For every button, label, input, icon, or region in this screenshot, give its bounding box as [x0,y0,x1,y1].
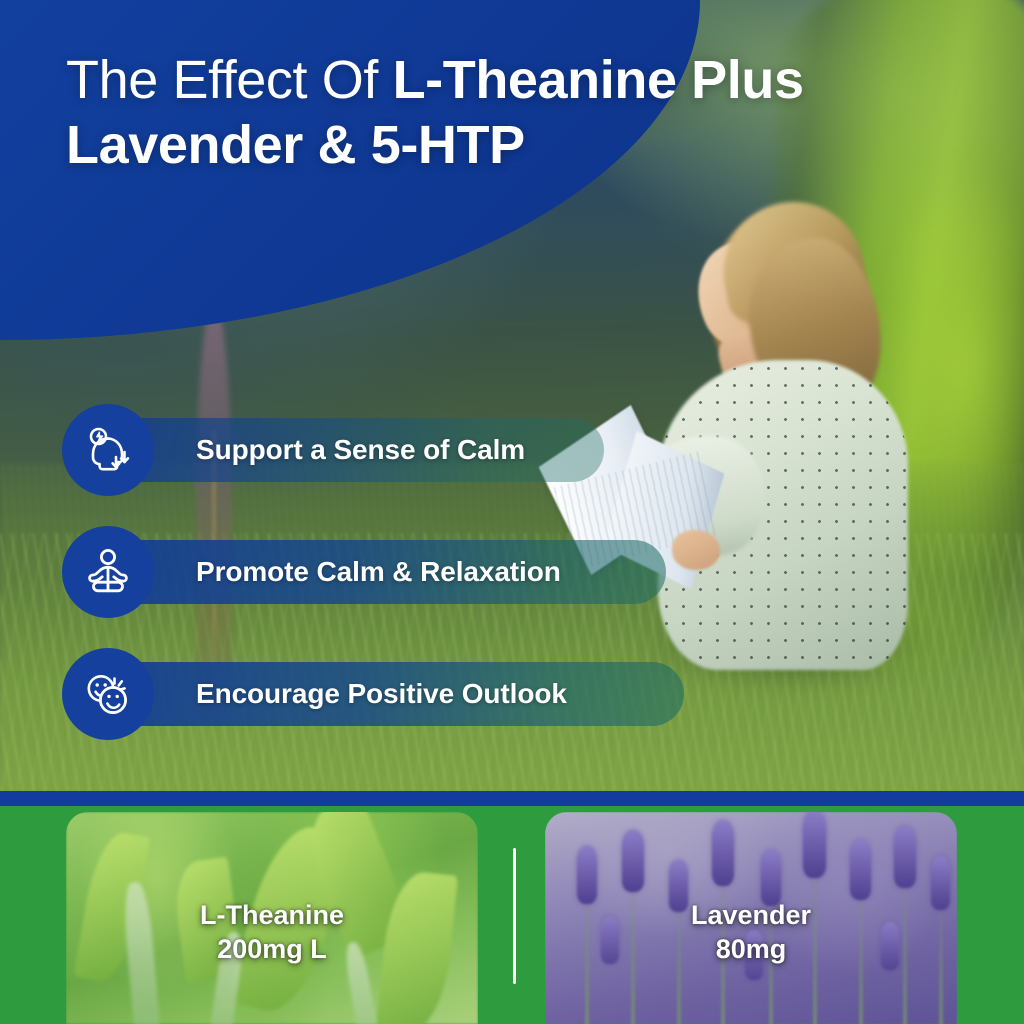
ingredient-card-lavender[interactable]: Lavender 80mg [545,812,957,1024]
benefit-label: Encourage Positive Outlook [196,678,567,710]
ingredient-card-l-theanine[interactable]: L-Theanine 200mg L [66,812,478,1024]
ingredient-name: Lavender [545,898,957,932]
benefit-item-support-calm[interactable]: Support a Sense of Calm [0,404,1024,496]
ingredient-title: L-Theanine 200mg L [66,898,478,966]
benefit-label: Support a Sense of Calm [196,434,525,466]
benefit-pill: Encourage Positive Outlook [104,662,684,726]
smiley-faces-icon [62,648,154,740]
benefit-label: Promote Calm & Relaxation [196,556,561,588]
card-divider [513,848,516,984]
ingredient-name: L-Theanine [66,898,478,932]
benefit-pill: Support a Sense of Calm [104,418,604,482]
infographic-canvas: The Effect Of L-Theanine Plus Lavender &… [0,0,1024,1024]
headline-lead: The Effect Of [66,50,393,110]
headline-strong-line2: Lavender & 5-HTP [66,115,525,175]
ingredients-section: L-Theanine 200mg L [0,806,1024,1024]
ingredient-dose: 200mg L [66,932,478,966]
benefit-pill: Promote Calm & Relaxation [104,540,666,604]
benefits-list: Support a Sense of Calm Promote Calm & R… [0,404,1024,770]
page-title: The Effect Of L-Theanine Plus Lavender &… [66,48,986,178]
ingredient-title: Lavender 80mg [545,898,957,966]
meditation-figure-icon [62,526,154,618]
benefit-item-promote-relaxation[interactable]: Promote Calm & Relaxation [0,526,1024,618]
head-stress-icon [62,404,154,496]
blue-separator-bar [0,791,1024,806]
benefit-item-positive-outlook[interactable]: Encourage Positive Outlook [0,648,1024,740]
headline-strong-line1: L-Theanine Plus [393,50,804,110]
ingredient-dose: 80mg [545,932,957,966]
